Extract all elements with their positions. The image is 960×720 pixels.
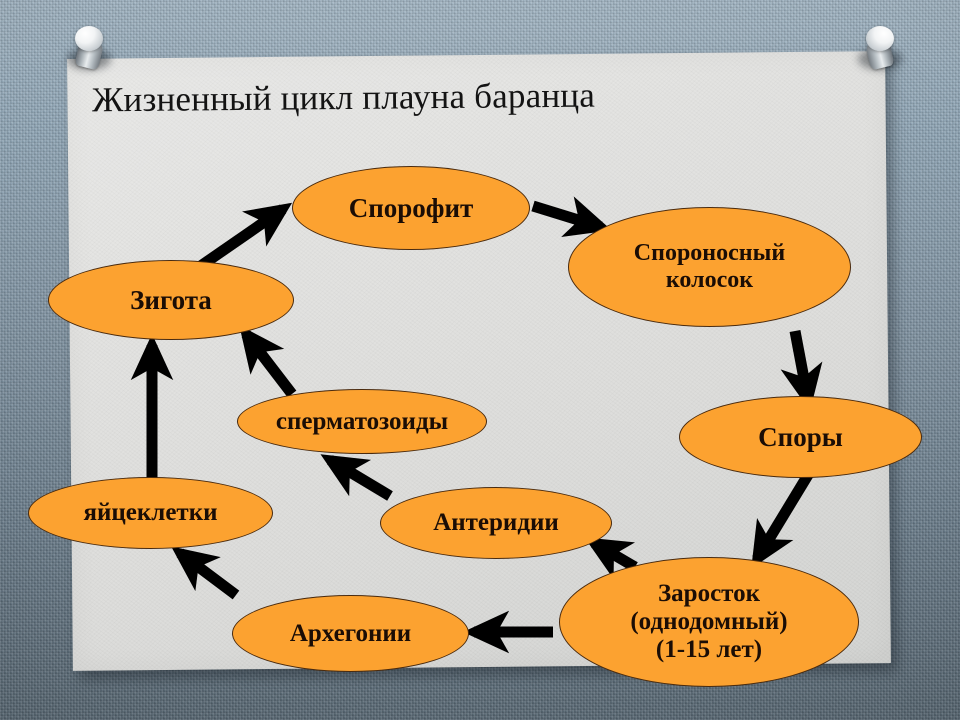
slide-canvas: Жизненный цикл плауна баранца Спорофит С…: [0, 0, 960, 720]
node-gametophyte-label-line1: Заросток: [554, 580, 864, 608]
node-archegonia-label: Архегонии: [233, 620, 468, 648]
pushpin-icon: [62, 22, 116, 80]
node-eggcells[interactable]: яйцеклетки: [28, 477, 273, 549]
node-spores-label: Споры: [680, 422, 921, 452]
node-sporophyte-label: Спорофит: [293, 193, 529, 223]
node-zygote-label: Зигота: [49, 285, 293, 315]
node-strobilus[interactable]: Спороносный колосок: [568, 207, 851, 327]
node-spermatozoa[interactable]: сперматозоиды: [237, 389, 487, 454]
node-gametophyte[interactable]: Заросток (однодомный) (1-15 лет): [559, 557, 859, 687]
page-title: Жизненный цикл плауна баранца: [92, 76, 595, 121]
node-eggcells-label: яйцеклетки: [29, 499, 272, 527]
node-strobilus-label-line1: Спороносный: [563, 240, 856, 267]
node-antheridia-label: Антеридии: [381, 509, 611, 537]
node-zygote[interactable]: Зигота: [48, 260, 294, 340]
node-gametophyte-label-line3: (1-15 лет): [554, 636, 864, 664]
pushpin-head: [75, 26, 103, 51]
node-antheridia[interactable]: Антеридии: [380, 487, 612, 559]
node-gametophyte-label-line2: (однодомный): [554, 608, 864, 636]
node-spermatozoa-label: сперматозоиды: [238, 408, 486, 436]
pushpin-head: [866, 26, 894, 51]
node-sporophyte[interactable]: Спорофит: [292, 166, 530, 250]
node-spores[interactable]: Споры: [679, 396, 922, 478]
pushpin-icon: [853, 22, 907, 80]
node-strobilus-label-line2: колосок: [563, 267, 856, 294]
node-archegonia[interactable]: Архегонии: [232, 595, 469, 672]
